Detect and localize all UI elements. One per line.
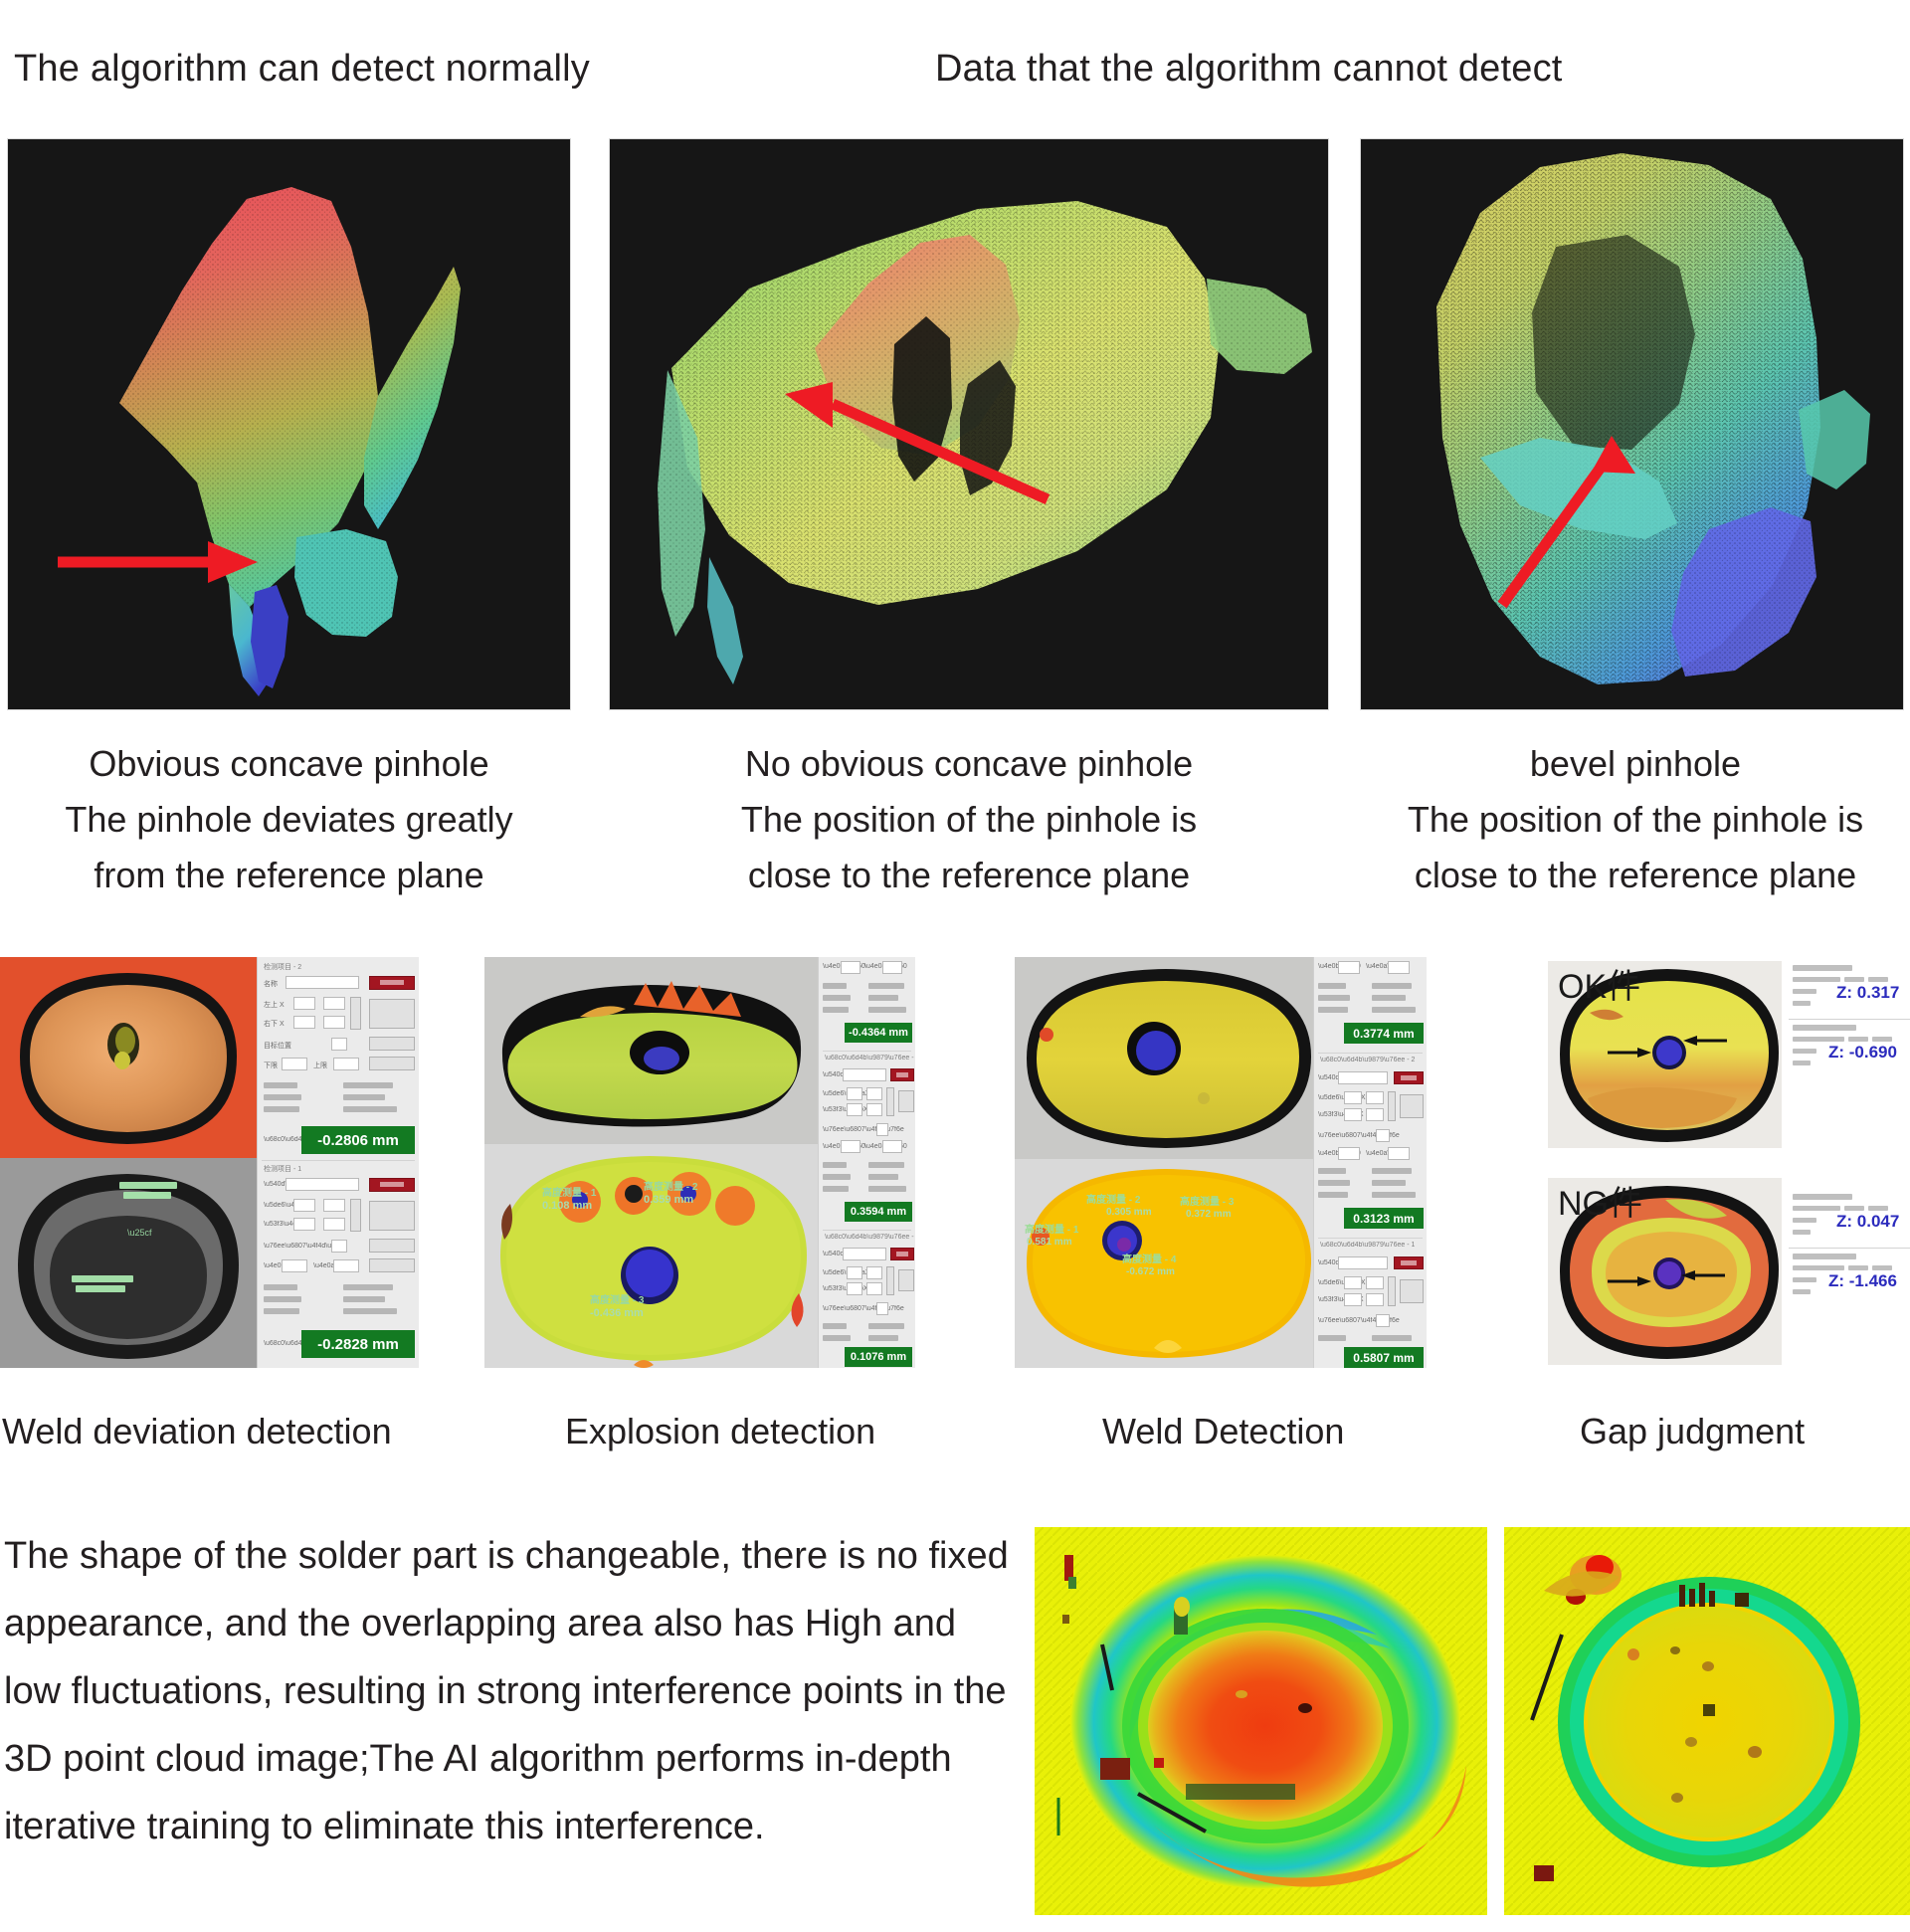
gap-readout-ng: Z: 0.047 Z: -1.466: [1789, 1190, 1910, 1365]
group-title-c2: \u68c0\u6d4b\u9879\u76ee - 2: [1320, 1057, 1415, 1063]
svg-text:\u25cf: \u25cf: [127, 1228, 152, 1238]
result-value-b3: 0.1076 mm: [845, 1347, 912, 1367]
group-title-b3: \u68c0\u6d4b\u9879\u76ee - 1: [825, 1234, 915, 1241]
z-value-ng-1: Z: 0.047: [1836, 1212, 1899, 1232]
bottomright-x-c2[interactable]: [1344, 1108, 1362, 1121]
gap-arrow-left-icon-2: [1606, 1273, 1653, 1289]
target-position-c3[interactable]: [1376, 1314, 1390, 1327]
pointcloud-render-3: [1361, 139, 1903, 709]
caption-line: close to the reference plane: [1361, 848, 1910, 903]
status-badge-ng-2: [369, 1178, 415, 1192]
slide-root: The algorithm can detect normally Data t…: [0, 0, 1910, 1932]
upper-limit-label: 上限: [313, 1061, 327, 1070]
part-3d-image: [484, 957, 818, 1144]
pointcloud-panel-2[interactable]: [610, 139, 1328, 709]
target-position-label-b3: \u76ee\u6807\u4f4d\u7f6e: [823, 1305, 904, 1312]
topleft-x-c2[interactable]: [1344, 1091, 1362, 1104]
save-button-2[interactable]: [369, 1258, 415, 1272]
measurement-sidebar-3[interactable]: \u4e0b\u9650 \u4e0a\u9650 0.3774 mm \u68…: [1313, 957, 1427, 1368]
pointcloud-panel-1[interactable]: [8, 139, 570, 709]
lower-limit-input-2[interactable]: [282, 1259, 307, 1272]
overlay-label-1: 高度测量 - 1: [542, 1184, 596, 1199]
name-input[interactable]: [286, 976, 359, 989]
gap-arrow-right-icon-2: [1679, 1267, 1727, 1283]
save-button[interactable]: [369, 1057, 415, 1070]
lower-limit-input[interactable]: [282, 1058, 307, 1070]
orientation-toggle-c2[interactable]: [1388, 1091, 1396, 1121]
result-value-b2: 0.3594 mm: [845, 1202, 912, 1222]
upper-limit-input[interactable]: [333, 1058, 359, 1070]
topleft-x-b2[interactable]: [847, 1087, 862, 1100]
group-title: 检测项目 - 2: [264, 962, 301, 972]
redetect-button-b2[interactable]: [898, 1090, 914, 1112]
bottomright-y-c3[interactable]: [1366, 1293, 1384, 1306]
topleft-x-c3[interactable]: [1344, 1276, 1362, 1289]
measurement-sidebar-2[interactable]: \u4e0b\u9650 \u4e0a\u9650 -0.4364 mm \u6…: [818, 957, 915, 1368]
bottomright-y-input-2[interactable]: [323, 1218, 345, 1231]
topleft-y-c3[interactable]: [1366, 1276, 1384, 1289]
lower-limit-label: 下限: [264, 1061, 278, 1070]
overlay-value-1: 0.108 mm: [542, 1200, 592, 1212]
bottomright-y-b2[interactable]: [866, 1103, 882, 1116]
upper-limit-input-2[interactable]: [333, 1259, 359, 1272]
topleft-y-b3[interactable]: [866, 1266, 882, 1279]
settings-button-2[interactable]: [369, 1239, 415, 1253]
bottomright-x-input[interactable]: [293, 1016, 315, 1029]
status-badge-ng-b3: [890, 1248, 914, 1260]
orientation-toggle-c3[interactable]: [1388, 1276, 1396, 1306]
upper-limit-input-b2[interactable]: [882, 1140, 902, 1153]
overlay-label-2: 高度测量 - 2: [644, 1178, 697, 1193]
target-position-input-2[interactable]: [331, 1240, 347, 1253]
bottomright-x-b3[interactable]: [847, 1282, 862, 1295]
target-position-input[interactable]: [331, 1038, 347, 1051]
overlay-value-c3: 0.372 mm: [1186, 1209, 1232, 1220]
bottomright-x-input-2[interactable]: [293, 1218, 315, 1231]
part-grayscale-image: \u25cf: [0, 1158, 257, 1368]
gap-arrow-right-icon: [1681, 1033, 1729, 1049]
caption-line: Obvious concave pinhole: [8, 736, 570, 792]
gap-card-ok[interactable]: OK件 Z: 0.317 Z: -0.690: [1512, 957, 1910, 1151]
lower-limit-input-b2[interactable]: [841, 1140, 860, 1153]
gap-readout-ok: Z: 0.317 Z: -0.690: [1789, 961, 1910, 1148]
heatmap-image-2[interactable]: [1504, 1527, 1910, 1915]
overlay-label-c3: 高度测量 - 3: [1180, 1193, 1234, 1208]
settings-button[interactable]: [369, 1037, 415, 1051]
status-badge-ng-c3: [1394, 1256, 1424, 1269]
redetect-button-c2[interactable]: [1400, 1094, 1424, 1118]
caption-line: The position of the pinhole is: [610, 792, 1328, 848]
header-left: The algorithm can detect normally: [14, 48, 590, 91]
pointcloud-panel-3[interactable]: [1361, 139, 1903, 709]
z-value-ng-2: Z: -1.466: [1828, 1271, 1897, 1291]
upper-limit-input-b[interactable]: [882, 961, 902, 974]
target-position-label: 目标位置: [264, 1041, 291, 1051]
bottomright-y-c2[interactable]: [1366, 1108, 1384, 1121]
status-badge-ng-b2: [890, 1068, 914, 1081]
overlay-label-c1: 高度测量 - 1: [1025, 1221, 1078, 1236]
target-position-b2[interactable]: [876, 1123, 888, 1136]
overlay-label-3: 高度测量 - 3: [590, 1291, 644, 1306]
topleft-label: 左上 X: [264, 1000, 285, 1010]
pointcloud-caption-3: bevel pinhole The position of the pinhol…: [1361, 736, 1910, 903]
caption-line: The pinhole deviates greatly: [8, 792, 570, 848]
caption-line: close to the reference plane: [610, 848, 1328, 903]
overlay-value-3: -0.436 mm: [590, 1307, 644, 1319]
orientation-toggle-b2[interactable]: [886, 1087, 894, 1116]
redetect-button[interactable]: [369, 999, 415, 1029]
heatmap-render-1: [1035, 1527, 1487, 1915]
caption-line: bevel pinhole: [1361, 736, 1910, 792]
orientation-toggle-b3[interactable]: [886, 1266, 894, 1295]
inspection-screenshot-explosion[interactable]: 高度测量 - 1 0.108 mm 高度测量 - 2 0.359 mm 高度测量…: [484, 957, 915, 1368]
part-heightmap-image: 高度测量 - 1 0.108 mm 高度测量 - 2 0.359 mm 高度测量…: [484, 1144, 818, 1368]
topleft-x-b3[interactable]: [847, 1266, 862, 1279]
result-value-1: -0.2806 mm: [301, 1126, 415, 1154]
bottomright-label: 右下 X: [264, 1019, 285, 1029]
pointcloud-caption-1: Obvious concave pinhole The pinhole devi…: [8, 736, 570, 903]
topleft-x-input[interactable]: [293, 997, 315, 1010]
header-right: Data that the algorithm cannot detect: [935, 48, 1563, 91]
caption-line: No obvious concave pinhole: [610, 736, 1328, 792]
row-label-explosion: Explosion detection: [565, 1411, 875, 1452]
caption-line: from the reference plane: [8, 848, 570, 903]
heatmap-render-2: [1504, 1527, 1910, 1915]
bottomright-y-input[interactable]: [323, 1016, 345, 1029]
redetect-button-b3[interactable]: [898, 1269, 914, 1291]
verdict-ok: OK件: [1558, 959, 1640, 1008]
status-badge-ng-c2: [1394, 1071, 1424, 1084]
pointcloud-caption-2: No obvious concave pinhole The position …: [610, 736, 1328, 903]
summary-paragraph: The shape of the solder part is changeab…: [4, 1522, 1009, 1860]
name-input-b2[interactable]: [843, 1068, 886, 1081]
target-position-c2[interactable]: [1376, 1129, 1390, 1142]
row-label-weld: Weld Detection: [1102, 1411, 1344, 1452]
pointcloud-render-2: [610, 139, 1328, 709]
z-value-ok-2: Z: -0.690: [1828, 1043, 1897, 1063]
lower-limit-input-c2[interactable]: [1338, 1147, 1360, 1160]
name-input-b3[interactable]: [843, 1248, 886, 1260]
row-label-gap: Gap judgment: [1580, 1411, 1805, 1452]
name-label: 名称: [264, 979, 278, 989]
gap-card-ng[interactable]: NG件 Z: 0.047 Z: -1.466: [1512, 1174, 1910, 1368]
redetect-button-c3[interactable]: [1400, 1279, 1424, 1303]
heatmap-image-1[interactable]: [1035, 1527, 1487, 1915]
part-3d-image-c: [1015, 957, 1313, 1159]
overlay-value-2: 0.359 mm: [644, 1194, 693, 1206]
gap-arrow-left-icon: [1606, 1045, 1653, 1061]
overlay-value-c1: 0.581 mm: [1027, 1237, 1072, 1248]
caption-line: The position of the pinhole is: [1361, 792, 1910, 848]
lower-limit-input-c[interactable]: [1338, 961, 1360, 974]
overlay-value-c4: -0.672 mm: [1126, 1266, 1175, 1277]
result-value-c3: 0.5807 mm: [1344, 1347, 1424, 1368]
name-input-2[interactable]: [286, 1178, 359, 1191]
inspection-screenshot-gap[interactable]: OK件 Z: 0.317 Z: -0.690: [1512, 957, 1910, 1368]
orientation-toggle[interactable]: [350, 997, 361, 1030]
overlay-label-c2: 高度测量 - 2: [1086, 1191, 1140, 1206]
lower-limit-input-b[interactable]: [841, 961, 860, 974]
orientation-toggle-2[interactable]: [350, 1199, 361, 1232]
topleft-y-b2[interactable]: [866, 1087, 882, 1100]
bottomright-x-c3[interactable]: [1344, 1293, 1362, 1306]
target-position-b3[interactable]: [876, 1302, 888, 1315]
result-value-2: -0.2828 mm: [301, 1330, 415, 1358]
group-title-b2: \u68c0\u6d4b\u9879\u76ee - 2: [825, 1055, 915, 1062]
inspection-screenshot-weld-deviation[interactable]: \u25cf 检测项目 - 2 名称 左上 X 右下 X 目标位置: [0, 957, 419, 1368]
pointcloud-render-1: [8, 139, 570, 709]
upper-limit-input-c2[interactable]: [1388, 1147, 1410, 1160]
bottomright-x-b2[interactable]: [847, 1103, 862, 1116]
part-heightmap-image-c: 高度测量 - 2 0.305 mm 高度测量 - 1 0.581 mm 高度测量…: [1015, 1159, 1313, 1368]
bottomright-y-b3[interactable]: [866, 1282, 882, 1295]
topleft-x-input-2[interactable]: [293, 1199, 315, 1212]
topleft-y-c2[interactable]: [1366, 1091, 1384, 1104]
name-input-c2[interactable]: [1338, 1071, 1388, 1084]
name-input-c3[interactable]: [1338, 1256, 1388, 1269]
target-position-label-b2: \u76ee\u6807\u4f4d\u7f6e: [823, 1126, 904, 1133]
result-value-b1: -0.4364 mm: [845, 1023, 912, 1043]
redetect-button-2[interactable]: [369, 1201, 415, 1231]
overlay-value-c2: 0.305 mm: [1106, 1207, 1152, 1218]
part-color-image: [0, 957, 257, 1158]
result-value-c2: 0.3123 mm: [1344, 1208, 1424, 1229]
row-label-weld-deviation: Weld deviation detection: [2, 1411, 392, 1452]
upper-limit-input-c[interactable]: [1388, 961, 1410, 974]
topleft-y-input[interactable]: [323, 997, 345, 1010]
result-value-c1: 0.3774 mm: [1344, 1023, 1424, 1044]
group-title: 检测项目 - 1: [264, 1164, 301, 1174]
group-title-c3: \u68c0\u6d4b\u9879\u76ee - 1: [1320, 1242, 1415, 1249]
inspection-screenshot-weld[interactable]: 高度测量 - 2 0.305 mm 高度测量 - 1 0.581 mm 高度测量…: [1015, 957, 1427, 1368]
measurement-sidebar[interactable]: 检测项目 - 2 名称 左上 X 右下 X 目标位置 下限 上限: [257, 957, 419, 1368]
topleft-y-input-2[interactable]: [323, 1199, 345, 1212]
verdict-ng: NG件: [1558, 1176, 1642, 1225]
overlay-label-c4: 高度测量 - 4: [1122, 1251, 1176, 1265]
status-badge-ng: [369, 976, 415, 990]
z-value-ok-1: Z: 0.317: [1836, 983, 1899, 1003]
